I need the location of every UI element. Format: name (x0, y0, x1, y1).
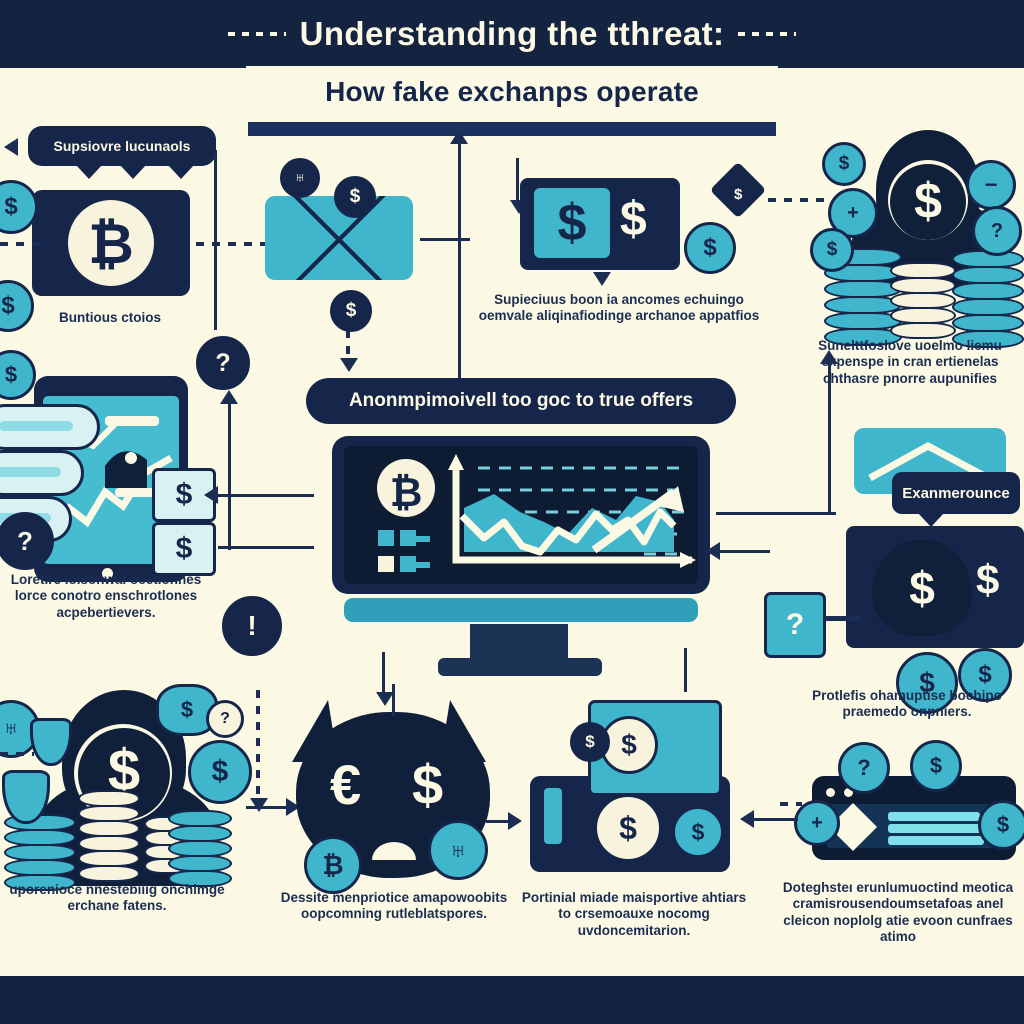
arrow-left-mid-up (220, 390, 238, 404)
search-coin-tr: ? (972, 206, 1022, 256)
chat-pill-a (0, 404, 100, 450)
connector-top-center-vert (458, 140, 461, 390)
connector-monitor-right-down (684, 648, 687, 692)
connector-left-mid-h2 (218, 546, 314, 549)
connector-left-mid-v (228, 400, 231, 550)
connector-envelope-right (420, 238, 470, 241)
title-dot-rule-right (738, 32, 796, 36)
monitor-neck (470, 624, 568, 660)
speech-bubble-label: Supsiovre lucunaols (54, 138, 191, 154)
connector-top-center-short (516, 158, 519, 202)
question-tile-glyph: ? (786, 608, 804, 642)
bitcoin-icon: ₿ (68, 200, 154, 286)
connector-minus-dash (826, 616, 860, 621)
money-bag-dollar-glyph: $ (872, 540, 972, 636)
dollar-tile-left-b-glyph: $ (176, 532, 193, 566)
speech-bubble-arrow (4, 138, 18, 156)
arrow-right-mid-up (820, 350, 838, 364)
globe-badge-icon: ♅ (280, 158, 320, 198)
diamond-badge-glyph: $ (734, 186, 742, 203)
bitcoin-coin-cat-left: ₿ (304, 836, 362, 894)
speech-tail-b (120, 165, 146, 179)
crypto-coin-cat-right: ♅ (428, 820, 488, 880)
title-underline-bar (248, 122, 776, 136)
arrow-left-mid (204, 486, 218, 504)
coin-stack-bl-d (168, 812, 232, 887)
hooded-figure-caption: uporenioce nnestebiiig onchimge erchane … (0, 882, 242, 915)
chat-pill-b (0, 450, 84, 496)
connector-browser-left (754, 818, 798, 821)
shield-coin-tr: $ (810, 228, 854, 272)
browser-coin-c: $ (910, 740, 962, 792)
dollar-tile-left-b: $ (152, 522, 216, 576)
chat-pill-a-line (0, 421, 73, 431)
wallet-badge-dark: $ (570, 722, 610, 762)
browser-line-a (888, 812, 980, 821)
arrow-suspicious-card-down (593, 272, 611, 286)
dollar-badge-above-envelope: $ (334, 176, 376, 218)
connector-dot-topright (768, 198, 826, 202)
monitor-device: ₿ (332, 436, 710, 594)
suspicious-exchange-caption: Supieciuus boon ia ancomes echuingo oemv… (478, 292, 760, 325)
suspicious-licence-speech-bubble: Supsiovre lucunaols (28, 126, 216, 166)
cat-eye-right-dollar: $ (412, 752, 443, 817)
alert-badge-center-left: ! (222, 596, 282, 656)
browser-coin-a: + (794, 800, 840, 846)
title-dot-rule-left (228, 32, 286, 36)
connector-dot-left-b (196, 242, 268, 246)
coin-stack-bl-a (4, 816, 76, 891)
monitor-chart-svg: ₿ (344, 446, 698, 584)
svg-text:₿: ₿ (390, 471, 423, 515)
browser-line-c (888, 836, 984, 845)
question-tile-right: ? (764, 592, 826, 658)
coin-stack-bl-b (78, 792, 140, 882)
connector-cat-up (392, 684, 395, 716)
browser-coin-d: $ (978, 800, 1024, 850)
connector-dot-stray-left (0, 752, 34, 756)
connector-dot-left-a (0, 242, 40, 246)
cat-caption: Dessite menpriotice amapowoobits oopcomn… (278, 890, 510, 923)
dollar-symbol-card: $ (620, 192, 647, 247)
chat-pill-b-line (0, 467, 61, 477)
cat-eye-left-euro: € (330, 752, 361, 817)
connector-bl-h (246, 806, 290, 809)
browser-coin-b: ? (838, 742, 890, 794)
connector-envelope-down (346, 330, 350, 360)
arrow-bl-down (250, 798, 268, 812)
dollar-tile-left-a-glyph: $ (176, 478, 193, 512)
connector-right-mid-v (828, 360, 831, 514)
arrow-envelope-down (340, 358, 358, 372)
shield-coin-bl: ? (206, 700, 244, 738)
wallet-slot (544, 788, 562, 844)
connector-bl-vert-dot (256, 690, 260, 800)
question-badge-upper-left: ? (196, 336, 250, 390)
arrow-question-tile (706, 542, 720, 560)
bitcoin-logo-card: ₿ (32, 190, 190, 296)
money-bag-caption: Protlefis ohamuptise bochipo praemedo on… (790, 688, 1024, 721)
browser-content-area (826, 804, 1002, 848)
wallet-dollar-coin: $ (594, 794, 662, 862)
center-banner-label: Anonmpimoivell too goc to true offers (349, 390, 693, 412)
bottom-band (0, 976, 1024, 1024)
connector-right-mid-h (716, 512, 836, 515)
connector-wallet-in (486, 820, 512, 823)
coin-stack-tr-c (952, 252, 1024, 348)
dollar-coin-tr-a: $ (822, 142, 866, 186)
dollar-tile-icon: $ (534, 188, 610, 258)
browser-dot-a (826, 788, 835, 797)
connector-dot-stray-right (780, 802, 802, 806)
examerource-badge-label: Exanmerounce (902, 485, 1010, 502)
wallet-caption: Portinial miade maisportive ahtiars to c… (518, 890, 750, 939)
dollar-coin-bl-b: $ (188, 740, 252, 804)
monitor-screen: ₿ (344, 446, 698, 584)
subtitle-text: How fake exchanps operate (325, 76, 699, 108)
examerource-badge: Exanmerounce (892, 472, 1020, 514)
arrow-top-center-up (450, 130, 468, 144)
money-bag-side-dollar: $ (976, 556, 999, 604)
wallet-side-coin: $ (672, 806, 724, 858)
connector-left-mid-h (218, 494, 314, 497)
connector-vert-left (214, 150, 217, 330)
connector-question-tile-left (718, 550, 770, 553)
suspicious-exchange-card: $ $ (520, 178, 680, 270)
bitcoin-logo-caption: Buntious ctoios (10, 310, 210, 326)
arrow-browser-left (740, 810, 754, 828)
coin-stack-tr-b (890, 264, 956, 339)
top-right-dollar-face-icon: $ (896, 168, 960, 234)
center-banner-pill: Anonmpimoivell too goc to true offers (306, 378, 736, 424)
browser-line-b (888, 824, 992, 833)
infographic-canvas: Understanding the tthreat: How fake exch… (0, 0, 1024, 1024)
subtitle-plate: How fake exchanps operate (246, 66, 778, 118)
dollar-badge-below-envelope: $ (330, 290, 372, 332)
monitor-foot (438, 658, 602, 676)
monitor-light-bar (344, 598, 698, 622)
title-text: Understanding the tthreat: (300, 15, 725, 53)
tablet-caption: Loretire lolsonwal ocetlonnes lorce cono… (0, 572, 218, 621)
connector-monitor-down (382, 652, 385, 696)
examerource-tail (918, 513, 944, 527)
speech-tail-c (168, 165, 194, 179)
dollar-coin-top-center: $ (684, 222, 736, 274)
minus-coin-tr: − (966, 160, 1016, 210)
browser-caption: Doteghsteı erunlumuoctind meotica cramis… (772, 880, 1024, 946)
speech-tail-a (76, 165, 102, 179)
page-title: Understanding the tthreat: (0, 8, 1024, 60)
